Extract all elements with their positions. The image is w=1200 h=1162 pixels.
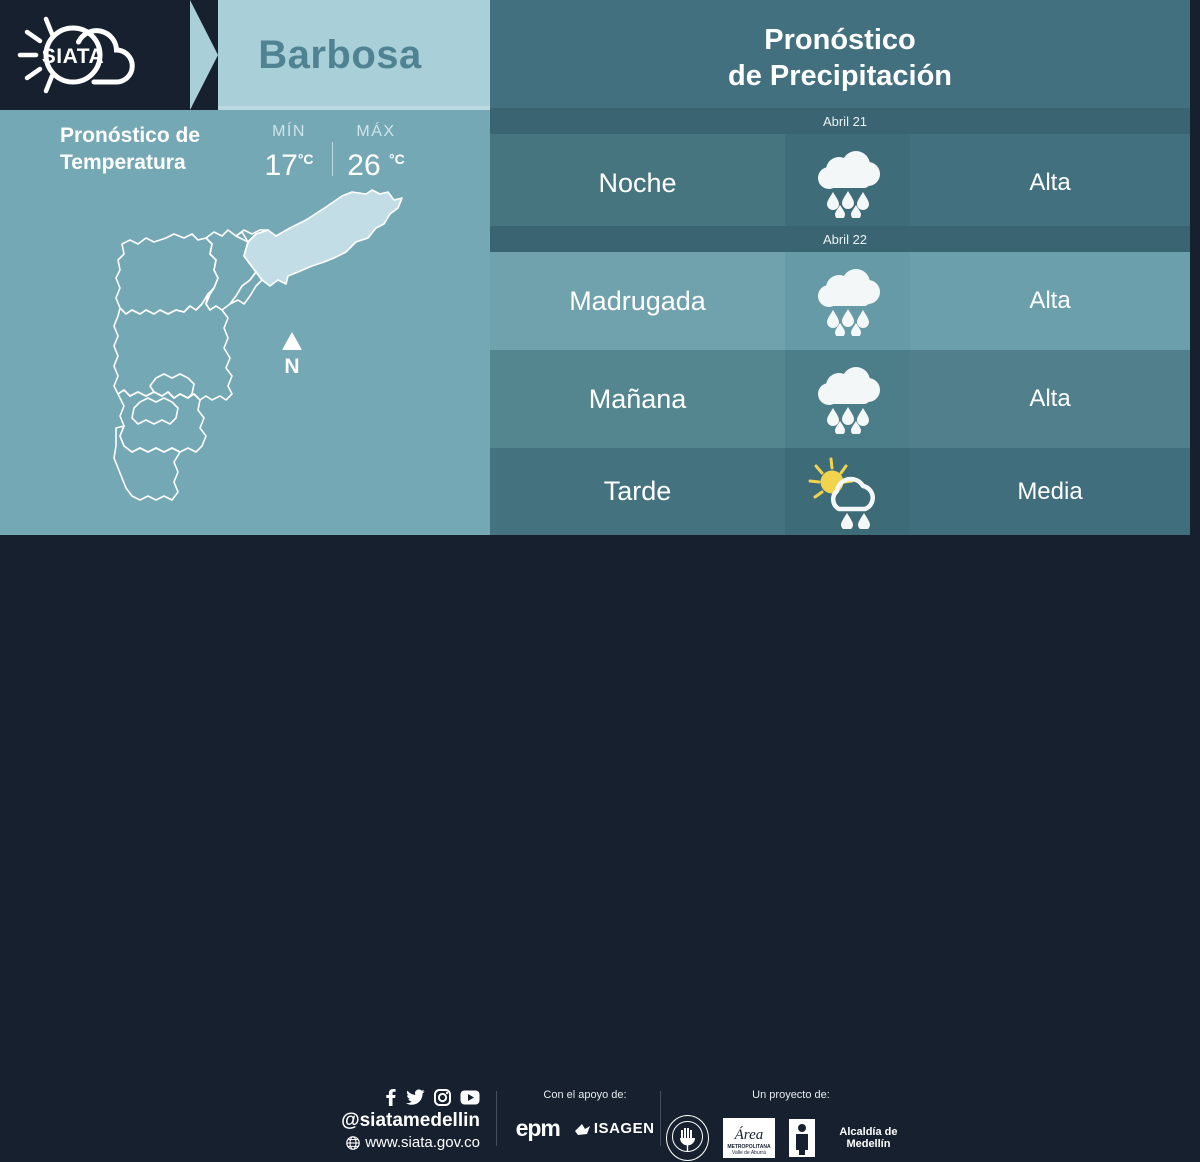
epm-logo[interactable]: epm — [516, 1115, 560, 1142]
north-arrow-icon — [278, 330, 306, 352]
precipitation-level: Alta — [910, 350, 1190, 448]
svg-text:SIATA: SIATA — [42, 45, 104, 68]
twitter-icon[interactable] — [406, 1088, 425, 1106]
udea-seal-icon — [667, 1116, 708, 1157]
support-group: Con el apoyo de: epm ISAGEN — [490, 1087, 680, 1142]
alcaldia-logo[interactable]: Alcaldía de Medellín — [789, 1119, 916, 1157]
footer: @siatamedellin www.siata.gov.co Con el a… — [0, 535, 1200, 630]
project-caption: Un proyecto de: — [666, 1087, 916, 1103]
amva-line2: Valle de Aburrá — [732, 1150, 766, 1156]
map-highlight-barbosa — [244, 190, 402, 286]
period-label: Madrugada — [490, 252, 785, 350]
precipitation-title-line1: Pronóstico — [764, 22, 915, 58]
temperature-title-line2: Temperatura — [60, 149, 240, 176]
min-value: 17 — [264, 149, 297, 182]
sun-cloud-rain-icon — [785, 448, 910, 535]
precipitation-title-line2: de Precipitación — [728, 58, 952, 94]
temperature-divider — [332, 142, 333, 176]
temperature-title-line1: Pronóstico de — [60, 122, 240, 149]
social-icons[interactable] — [300, 1087, 480, 1107]
siata-logo[interactable]: SIATA — [16, 12, 156, 98]
isagen-text: ISAGEN — [594, 1120, 655, 1137]
website-text: www.siata.gov.co — [365, 1133, 480, 1153]
max-label: MÁX — [337, 122, 415, 142]
project-logos: Área METROPOLITANA Valle de Aburrá Alcal… — [666, 1115, 916, 1161]
period-label: Mañana — [490, 350, 785, 448]
isagen-mark-icon — [574, 1122, 591, 1136]
period-label: Tarde — [490, 448, 785, 535]
north-arrow: N — [278, 330, 306, 382]
min-label: MÍN — [250, 122, 328, 142]
instagram-icon[interactable] — [434, 1089, 451, 1106]
forecast-row-tarde[interactable]: Tarde Media — [490, 448, 1200, 535]
precipitation-level: Alta — [910, 134, 1190, 232]
precipitation-level: Media — [910, 448, 1190, 535]
udea-seal-logo[interactable] — [666, 1115, 709, 1161]
social-handle[interactable]: @siatamedellin — [300, 1109, 480, 1133]
min-value-wrap: 17°C — [250, 142, 328, 183]
alcaldia-text: Alcaldía de Medellín — [821, 1126, 916, 1150]
city-name: Barbosa — [190, 0, 490, 110]
min-unit: °C — [298, 151, 314, 167]
facebook-icon[interactable] — [384, 1088, 397, 1106]
support-logos: epm ISAGEN — [490, 1115, 680, 1142]
left-panel: SIATA Barbosa Pronóstico de Temperatura … — [0, 0, 490, 535]
alcaldia-mark-icon — [789, 1119, 815, 1157]
precipitation-level: Alta — [910, 252, 1190, 350]
isagen-logo[interactable]: ISAGEN — [574, 1120, 655, 1137]
amva-script: Área — [735, 1128, 764, 1143]
rain-cloud-icon — [785, 350, 910, 448]
rain-cloud-icon — [785, 134, 910, 232]
right-dark-edge — [1190, 0, 1200, 535]
max-value-wrap: 26 °C — [337, 142, 415, 183]
date-strip-april-22: Abril 22 — [490, 226, 1200, 252]
precipitation-title: Pronóstico de Precipitación — [490, 10, 1190, 105]
support-caption: Con el apoyo de: — [490, 1087, 680, 1103]
amva-logo[interactable]: Área METROPOLITANA Valle de Aburrá — [723, 1118, 775, 1158]
social-block: @siatamedellin www.siata.gov.co — [300, 1087, 480, 1153]
period-label: Noche — [490, 134, 785, 232]
max-unit: °C — [389, 151, 405, 167]
logo-flag-arrow — [190, 0, 218, 110]
temperature-min: MÍN 17°C — [250, 122, 328, 183]
temperature-values: MÍN 17°C MÁX 26 °C — [250, 122, 415, 183]
forecast-row-madrugada[interactable]: Madrugada Alta — [490, 252, 1200, 350]
max-value: 26 — [347, 149, 380, 182]
rain-cloud-icon — [785, 252, 910, 350]
website-line[interactable]: www.siata.gov.co — [300, 1133, 480, 1153]
date-strip-april-21: Abril 21 — [490, 108, 1200, 134]
aburra-valley-map — [80, 180, 430, 530]
footer-divider-2 — [660, 1091, 661, 1146]
forecast-row-noche[interactable]: Noche Alta — [490, 134, 1200, 232]
youtube-icon[interactable] — [460, 1090, 480, 1105]
sun-cloud-icon: SIATA — [16, 12, 156, 98]
temperature-max: MÁX 26 °C — [337, 122, 415, 183]
temperature-title: Pronóstico de Temperatura — [60, 122, 240, 176]
project-group: Un proyecto de: Área METROPOLITANA Valle… — [666, 1087, 916, 1161]
north-label: N — [278, 357, 306, 377]
weather-forecast-poster: SIATA Barbosa Pronóstico de Temperatura … — [0, 0, 1200, 630]
forecast-row-manana[interactable]: Mañana Alta — [490, 350, 1200, 448]
globe-icon — [346, 1136, 360, 1150]
